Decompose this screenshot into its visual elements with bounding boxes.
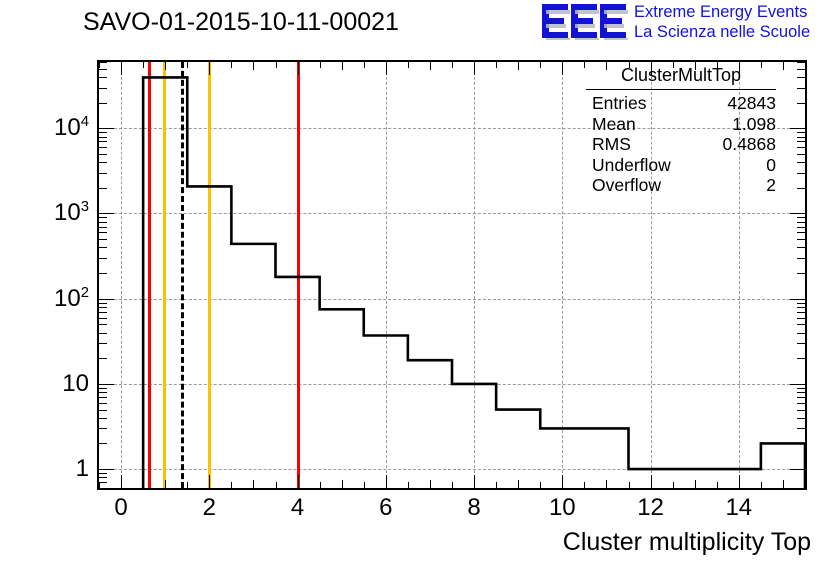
x-axis-tick xyxy=(143,482,144,488)
y-axis-tick-right xyxy=(797,343,805,344)
y-axis-tick-right xyxy=(797,307,805,308)
y-axis-tick-right xyxy=(797,397,805,398)
x-axis-tick xyxy=(408,482,409,488)
x-axis-label: 10 xyxy=(549,494,576,522)
x-axis-tick-top xyxy=(298,62,299,75)
stats-row: Mean1.098 xyxy=(586,114,776,134)
y-axis-tick xyxy=(99,62,107,63)
y-axis-tick xyxy=(99,418,107,419)
x-axis-label: 12 xyxy=(637,494,664,522)
stats-title: ClusterMultTop xyxy=(572,65,790,86)
x-axis-tick xyxy=(474,475,475,488)
y-axis-tick-right xyxy=(797,232,805,233)
y-axis-tick xyxy=(99,299,114,300)
y-axis-tick-right xyxy=(790,128,805,129)
y-axis-tick-right xyxy=(797,222,805,223)
x-axis-tick xyxy=(386,475,387,488)
y-axis-tick-right xyxy=(797,239,805,240)
x-axis-label: 8 xyxy=(467,494,480,522)
x-axis-tick xyxy=(165,480,166,488)
stats-row: Underflow0 xyxy=(586,155,776,175)
stats-divider xyxy=(586,89,776,90)
y-axis-tick-right xyxy=(797,188,805,189)
y-axis-tick-right xyxy=(797,273,805,274)
x-axis-tick xyxy=(562,475,563,488)
y-axis-tick-right xyxy=(797,132,805,133)
stats-row-value: 42843 xyxy=(727,93,776,114)
y-axis-tick xyxy=(99,318,107,319)
stats-row-value: 0 xyxy=(766,155,776,176)
y-axis-tick xyxy=(99,384,114,385)
y-axis-tick-right xyxy=(790,469,805,470)
y-axis-tick-right xyxy=(797,227,805,228)
y-axis-tick xyxy=(99,428,107,429)
y-axis-tick-right xyxy=(797,303,805,304)
y-axis-tick-right xyxy=(797,103,805,104)
y-axis-label: 102 xyxy=(54,285,89,313)
eee-logo-line1: Extreme Energy Events xyxy=(634,2,834,22)
y-axis-tick xyxy=(99,403,107,404)
y-axis-tick xyxy=(99,173,107,174)
y-axis-tick xyxy=(99,258,107,259)
y-axis-tick xyxy=(99,392,107,393)
y-axis-tick-right xyxy=(797,147,805,148)
y-axis-tick xyxy=(99,303,107,304)
eee-logo-mark xyxy=(540,2,630,40)
y-axis-tick xyxy=(99,469,114,470)
x-axis-label: 4 xyxy=(291,494,304,522)
y-axis-tick xyxy=(99,324,107,325)
y-axis-tick xyxy=(99,103,107,104)
y-axis-tick-right xyxy=(797,410,805,411)
y-axis-tick-right xyxy=(797,137,805,138)
x-axis-tick xyxy=(364,482,365,488)
y-axis-tick-right xyxy=(797,62,805,63)
y-axis-label: 103 xyxy=(54,199,89,227)
x-axis-tick-top xyxy=(209,62,210,75)
page-title: SAVO-01-2015-10-11-00021 xyxy=(83,8,399,37)
stats-row-key: Underflow xyxy=(592,155,671,176)
y-axis-tick xyxy=(99,232,107,233)
y-axis-tick xyxy=(99,247,107,248)
y-axis-tick-right xyxy=(797,88,805,89)
y-axis-tick-right xyxy=(790,299,805,300)
y-axis-tick-right xyxy=(797,77,805,78)
y-axis-tick xyxy=(99,227,107,228)
stats-row-key: Entries xyxy=(592,93,646,114)
x-axis-tick xyxy=(584,482,585,488)
x-axis-tick xyxy=(187,482,188,488)
x-axis-tick xyxy=(739,475,740,488)
stats-row-value: 2 xyxy=(766,175,776,196)
x-axis-tick xyxy=(761,482,762,488)
x-axis-tick xyxy=(518,480,519,488)
y-axis-tick xyxy=(99,358,107,359)
y-axis-tick xyxy=(99,473,107,474)
root-canvas: SAVO-01-2015-10-11-00021 xyxy=(0,0,836,572)
x-axis-tick xyxy=(606,480,607,488)
y-axis-tick-right xyxy=(797,69,805,70)
y-axis-tick xyxy=(99,213,114,214)
y-axis-tick xyxy=(99,239,107,240)
eee-logo-line2: La Scienza nelle Scuole xyxy=(634,22,834,42)
stats-row-value: 1.098 xyxy=(732,114,776,135)
x-axis-tick-top xyxy=(430,62,431,70)
y-axis-tick xyxy=(99,141,107,142)
stats-row: Entries42843 xyxy=(586,93,776,113)
y-axis-tick xyxy=(99,154,107,155)
y-axis-tick xyxy=(99,188,107,189)
x-axis-tick-top xyxy=(320,62,321,68)
y-axis-tick xyxy=(99,388,107,389)
y-axis-tick-right xyxy=(797,358,805,359)
y-axis-tick xyxy=(99,77,107,78)
y-axis-tick-right xyxy=(797,247,805,248)
x-axis-tick xyxy=(298,475,299,488)
y-axis-tick xyxy=(99,217,107,218)
y-axis-tick-right xyxy=(797,392,805,393)
y-axis-tick-right xyxy=(790,384,805,385)
y-axis-label: 104 xyxy=(54,114,89,142)
x-axis-tick-top xyxy=(253,62,254,70)
x-axis-tick-top xyxy=(187,62,188,68)
stats-box: ClusterMultTop Entries42843Mean1.098RMS0… xyxy=(572,63,790,190)
x-axis-tick-top xyxy=(518,62,519,70)
x-axis-tick xyxy=(253,480,254,488)
x-axis-tick xyxy=(320,482,321,488)
y-axis-tick-right xyxy=(797,312,805,313)
x-axis-tick-top xyxy=(143,62,144,68)
y-axis-tick-right xyxy=(797,217,805,218)
x-axis-tick-top xyxy=(408,62,409,68)
eee-logo: Extreme Energy Events La Scienza nelle S… xyxy=(540,2,832,44)
stats-row: RMS0.4868 xyxy=(586,134,776,154)
x-axis-tick xyxy=(430,480,431,488)
y-axis-tick-right xyxy=(790,213,805,214)
y-axis-tick xyxy=(99,343,107,344)
eee-logo-text: Extreme Energy Events La Scienza nelle S… xyxy=(634,2,834,42)
y-axis-tick xyxy=(99,137,107,138)
y-axis-tick xyxy=(99,410,107,411)
y-axis-tick-right xyxy=(797,324,805,325)
y-axis-tick xyxy=(99,222,107,223)
x-axis-tick xyxy=(276,482,277,488)
y-axis-tick xyxy=(99,397,107,398)
y-axis-tick-right xyxy=(797,443,805,444)
y-axis-tick xyxy=(99,147,107,148)
x-axis-tick-top xyxy=(386,62,387,75)
y-axis-tick xyxy=(99,132,107,133)
y-axis-tick-right xyxy=(797,154,805,155)
y-axis-tick xyxy=(99,162,107,163)
stats-row-key: Mean xyxy=(592,114,636,135)
x-axis-tick-top xyxy=(121,62,122,75)
x-axis-tick-top xyxy=(474,62,475,75)
x-axis-title: Cluster multiplicity Top xyxy=(563,528,811,557)
y-axis-label: 10 xyxy=(62,370,89,398)
x-axis-tick xyxy=(209,475,210,488)
x-axis-tick-top xyxy=(540,62,541,68)
y-axis-tick xyxy=(99,443,107,444)
stats-row-key: RMS xyxy=(592,134,631,155)
x-axis-tick-top xyxy=(165,62,166,70)
x-axis-tick-top xyxy=(452,62,453,68)
y-axis-tick xyxy=(99,307,107,308)
y-axis-tick xyxy=(99,273,107,274)
x-axis-tick xyxy=(629,482,630,488)
x-axis-tick xyxy=(651,475,652,488)
y-axis-tick xyxy=(99,477,107,478)
y-axis-tick-right xyxy=(797,428,805,429)
stats-row-value: 0.4868 xyxy=(722,134,776,155)
y-axis-tick-right xyxy=(797,318,805,319)
x-axis-tick-top xyxy=(231,62,232,68)
y-axis-tick-right xyxy=(797,173,805,174)
x-axis-tick-top xyxy=(562,62,563,75)
y-axis-tick-right xyxy=(797,403,805,404)
x-axis-tick xyxy=(783,480,784,488)
y-axis-tick-right xyxy=(797,141,805,142)
x-axis-tick-top xyxy=(276,62,277,68)
y-axis-tick xyxy=(99,128,114,129)
y-axis-tick-right xyxy=(797,162,805,163)
stats-row-key: Overflow xyxy=(592,175,661,196)
stats-row: Overflow2 xyxy=(586,175,776,195)
x-axis-tick xyxy=(342,480,343,488)
y-axis-tick-right xyxy=(797,333,805,334)
x-axis-tick xyxy=(540,482,541,488)
y-axis-tick-right xyxy=(797,258,805,259)
x-axis-label: 0 xyxy=(114,494,127,522)
x-axis-tick xyxy=(673,482,674,488)
x-axis-tick xyxy=(231,482,232,488)
x-axis-label: 14 xyxy=(725,494,752,522)
x-axis-tick-top xyxy=(496,62,497,68)
y-axis-tick xyxy=(99,482,107,483)
y-axis-tick xyxy=(99,333,107,334)
x-axis-tick xyxy=(121,475,122,488)
y-axis-tick xyxy=(99,312,107,313)
x-axis-tick-top xyxy=(342,62,343,70)
x-axis-label: 6 xyxy=(379,494,392,522)
x-axis-label: 2 xyxy=(203,494,216,522)
y-axis-tick xyxy=(99,69,107,70)
y-axis-tick-right xyxy=(797,388,805,389)
x-axis-tick-top xyxy=(364,62,365,68)
x-axis-tick xyxy=(717,482,718,488)
y-axis-label: 1 xyxy=(76,455,89,483)
y-axis-tick xyxy=(99,88,107,89)
x-axis-tick xyxy=(695,480,696,488)
x-axis-tick xyxy=(452,482,453,488)
x-axis-tick xyxy=(496,482,497,488)
y-axis-tick-right xyxy=(797,418,805,419)
